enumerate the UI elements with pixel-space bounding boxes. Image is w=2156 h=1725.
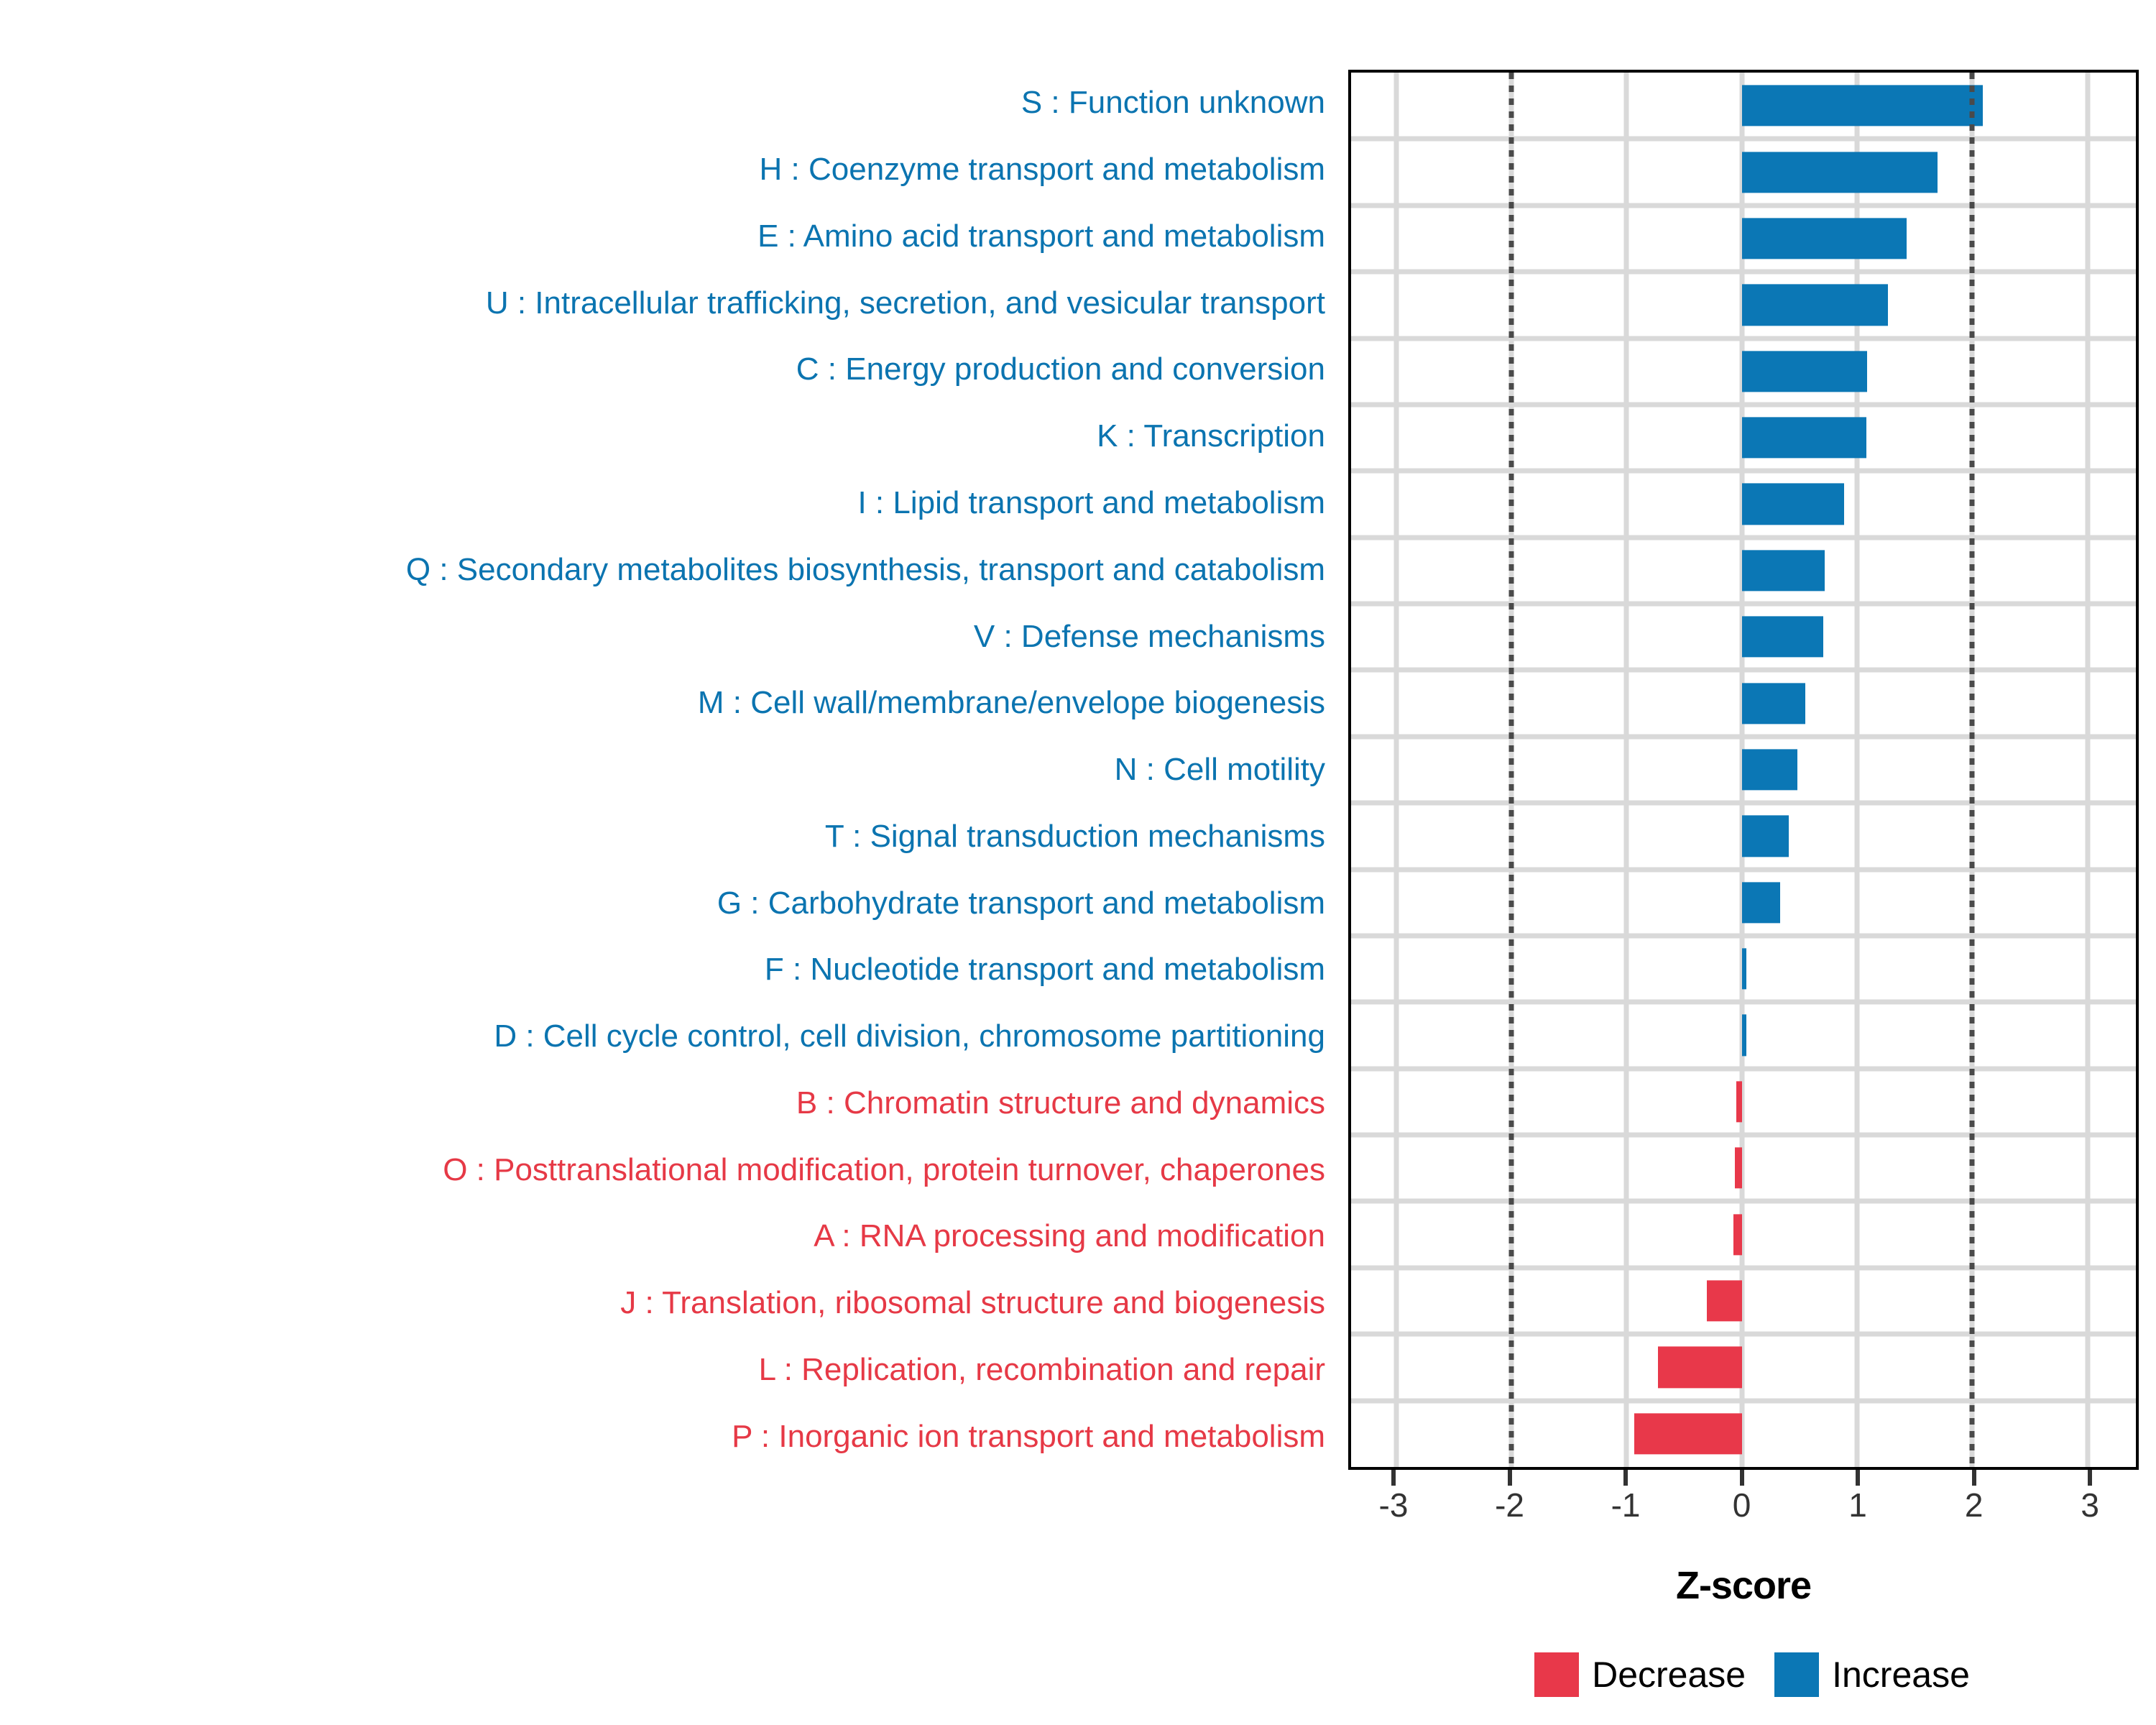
reference-line [1508, 73, 1514, 1467]
x-axis-tick [1856, 1470, 1860, 1486]
x-axis-tick-label: -1 [1611, 1489, 1641, 1522]
bar[interactable] [1742, 749, 1797, 790]
y-axis-label: J : Translation, ribosomal structure and… [0, 1270, 1337, 1337]
plot-area [1351, 73, 2136, 1467]
legend-label: Decrease [1592, 1657, 1746, 1693]
bar[interactable] [1742, 351, 1868, 392]
legend-item[interactable]: Increase [1774, 1652, 1970, 1697]
y-axis-label: V : Defense mechanisms [0, 603, 1337, 670]
bar[interactable] [1742, 948, 1746, 989]
y-axis-label: D : Cell cycle control, cell division, c… [0, 1003, 1337, 1070]
y-axis-label: H : Coenzyme transport and metabolism [0, 137, 1337, 203]
bar-row [1351, 870, 2136, 936]
bar[interactable] [1742, 417, 1866, 458]
bar-row [1351, 272, 2136, 338]
bar-row [1351, 1201, 2136, 1267]
x-axis-tick [1972, 1470, 1976, 1486]
y-axis-label: M : Cell wall/membrane/envelope biogenes… [0, 670, 1337, 737]
bar[interactable] [1742, 1015, 1746, 1056]
bar-row [1351, 206, 2136, 272]
plot-panel [1348, 70, 2139, 1470]
bar-row [1351, 1334, 2136, 1400]
bar[interactable] [1742, 882, 1780, 923]
x-axis-tick [1508, 1470, 1512, 1486]
bar-row [1351, 604, 2136, 670]
bar-row [1351, 139, 2136, 205]
bar-row [1351, 737, 2136, 803]
y-axis-label: L : Replication, recombination and repai… [0, 1337, 1337, 1404]
x-axis-tick-label: -2 [1495, 1489, 1524, 1522]
bar-row [1351, 1401, 2136, 1467]
bar[interactable] [1735, 1148, 1742, 1189]
bar[interactable] [1658, 1347, 1742, 1388]
bar[interactable] [1733, 1214, 1741, 1255]
bar-row [1351, 803, 2136, 869]
y-axis-label: B : Chromatin structure and dynamics [0, 1069, 1337, 1136]
x-axis-tick-label: -3 [1379, 1489, 1409, 1522]
y-axis-label: G : Carbohydrate transport and metabolis… [0, 870, 1337, 937]
bar[interactable] [1742, 285, 1889, 326]
y-axis-label: K : Transcription [0, 403, 1337, 470]
y-axis-label: U : Intracellular trafficking, secretion… [0, 270, 1337, 336]
bar[interactable] [1742, 683, 1805, 724]
bar[interactable] [1742, 816, 1789, 857]
y-axis-label: I : Lipid transport and metabolism [0, 470, 1337, 537]
bar[interactable] [1742, 218, 1907, 259]
y-axis-label: N : Cell motility [0, 737, 1337, 804]
bar-row [1351, 670, 2136, 736]
legend-item[interactable]: Decrease [1534, 1652, 1746, 1697]
bar[interactable] [1742, 550, 1825, 591]
bar-row [1351, 73, 2136, 139]
x-axis-tick-label: 3 [2081, 1489, 2099, 1522]
y-axis-label: P : Inorganic ion transport and metaboli… [0, 1403, 1337, 1470]
bar[interactable] [1742, 484, 1845, 525]
legend-swatch [1774, 1652, 1819, 1697]
y-axis-label: F : Nucleotide transport and metabolism [0, 937, 1337, 1003]
y-axis-label: S : Function unknown [0, 70, 1337, 137]
x-axis-tick-label: 0 [1733, 1489, 1751, 1522]
legend-label: Increase [1832, 1657, 1970, 1693]
x-axis: -3-2-10123 [1348, 1470, 2139, 1556]
chart-legend: DecreaseIncrease [1348, 1642, 2156, 1707]
bar[interactable] [1634, 1413, 1741, 1454]
bar[interactable] [1742, 86, 1983, 126]
x-axis-tick-label: 2 [1965, 1489, 1984, 1522]
chart-root: S : Function unknownH : Coenzyme transpo… [0, 0, 2156, 1725]
x-axis-tick-label: 1 [1848, 1489, 1867, 1522]
bar-row [1351, 1069, 2136, 1135]
bar-series [1351, 73, 2136, 1467]
y-axis-label: C : Energy production and conversion [0, 336, 1337, 403]
x-axis-title: Z-score [1348, 1563, 2139, 1608]
bar-row [1351, 405, 2136, 471]
bar[interactable] [1707, 1280, 1741, 1321]
bar[interactable] [1742, 152, 1938, 193]
y-axis-label: Q : Secondary metabolites biosynthesis, … [0, 536, 1337, 603]
legend-swatch [1534, 1652, 1579, 1697]
bar-row [1351, 339, 2136, 405]
reference-line [1970, 73, 1975, 1467]
y-axis-label: O : Posttranslational modification, prot… [0, 1136, 1337, 1203]
y-axis-label: E : Amino acid transport and metabolism [0, 203, 1337, 270]
bar-row [1351, 1268, 2136, 1334]
bar-row [1351, 1002, 2136, 1068]
bar-row [1351, 936, 2136, 1002]
bar[interactable] [1736, 1081, 1742, 1122]
x-axis-tick [2088, 1470, 2092, 1486]
y-axis-category-labels: S : Function unknownH : Coenzyme transpo… [0, 70, 1337, 1470]
x-axis-tick [1740, 1470, 1744, 1486]
y-axis-label: T : Signal transduction mechanisms [0, 803, 1337, 870]
x-axis-tick [1623, 1470, 1628, 1486]
y-axis-label: A : RNA processing and modification [0, 1203, 1337, 1270]
bar-row [1351, 1135, 2136, 1201]
x-axis-tick [1391, 1470, 1396, 1486]
bar-row [1351, 538, 2136, 604]
bar-row [1351, 471, 2136, 537]
bar[interactable] [1742, 617, 1824, 658]
